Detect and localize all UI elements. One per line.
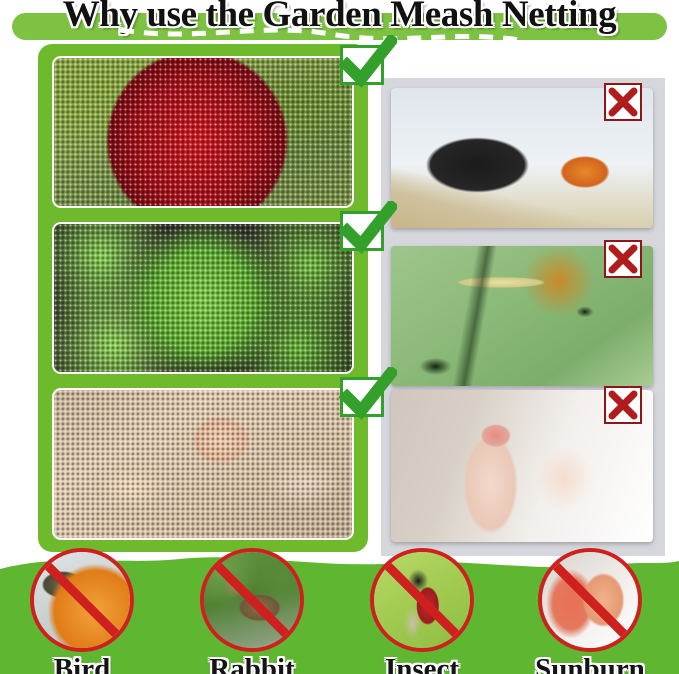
- cross-mark-icon: [604, 83, 642, 121]
- no-insect-icon: [370, 548, 474, 652]
- check-mark-icon: [340, 377, 384, 417]
- no-rabbit-icon: [200, 548, 304, 652]
- photo-lettuce-under-netting: [52, 222, 354, 374]
- threat-item-bird: Bird: [22, 548, 142, 674]
- no-bird-icon: [30, 548, 134, 652]
- check-mark-icon: [340, 211, 384, 251]
- cross-mark-icon: [604, 240, 642, 278]
- threat-label: Insect: [362, 653, 482, 674]
- photo-apple-under-netting: [52, 56, 354, 208]
- apple-artwork: [54, 58, 352, 206]
- page-title: Why use the Garden Meash Netting: [0, 0, 679, 38]
- no-sunburn-icon: [538, 548, 642, 652]
- threat-item-sunburn: Sunburn: [530, 548, 650, 674]
- cross-mark-icon: [604, 386, 642, 424]
- with-netting-column: [38, 44, 368, 552]
- threat-item-rabbit: Rabbit: [192, 548, 312, 674]
- check-mark-icon: [340, 45, 384, 85]
- threat-label: Rabbit: [192, 653, 312, 674]
- threat-label: Sunburn: [530, 653, 650, 674]
- photo-child-under-netting: [52, 388, 354, 540]
- without-netting-column: [381, 78, 665, 556]
- threat-label: Bird: [22, 653, 142, 674]
- threat-item-insect: Insect: [362, 548, 482, 674]
- lettuce-artwork: [54, 224, 352, 372]
- product-infographic-poster: Why use the Garden Meash Netting: [0, 0, 679, 674]
- sleeping-child-artwork: [54, 390, 352, 538]
